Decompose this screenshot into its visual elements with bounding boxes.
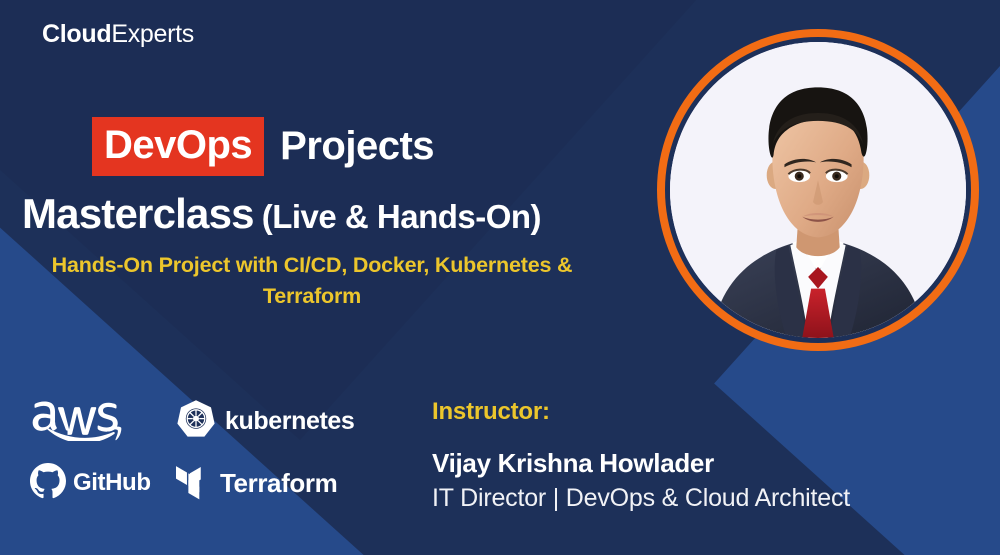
technology-logo-row-1: kubernetes xyxy=(30,390,410,452)
brand-name-light: Experts xyxy=(111,20,194,48)
headline-masterclass-word: Masterclass xyxy=(22,190,254,237)
technology-logo-grid: kubernetes GitHub xyxy=(30,390,410,514)
headline-line-1: DevOps Projects xyxy=(0,118,640,174)
instructor-block: Instructor: Vijay Krishna Howlader IT Di… xyxy=(432,400,972,511)
instructor-role: IT Director | DevOps & Cloud Architect xyxy=(432,486,972,511)
course-promo-banner: CloudExperts DevOps Projects Masterclass… xyxy=(0,0,1000,555)
technology-logo-row-2: GitHub Terraform xyxy=(30,452,410,514)
github-logo-icon xyxy=(30,463,66,504)
aws-logo-icon xyxy=(30,397,122,446)
instructor-label: Instructor: xyxy=(432,400,972,424)
instructor-photo-ring xyxy=(657,29,979,351)
devops-badge: DevOps xyxy=(92,117,264,176)
headline-line-2: Masterclass(Live & Hands-On) xyxy=(0,190,640,238)
tech-item-github: GitHub xyxy=(30,463,176,504)
headline-live-hands-on: (Live & Hands-On) xyxy=(262,198,541,235)
terraform-logo-icon xyxy=(176,462,210,505)
instructor-name: Vijay Krishna Howlader xyxy=(432,450,972,476)
kubernetes-label: kubernetes xyxy=(225,409,354,434)
tech-item-terraform: Terraform xyxy=(176,462,337,505)
instructor-avatar xyxy=(670,42,966,338)
terraform-label: Terraform xyxy=(220,470,337,496)
tech-item-kubernetes: kubernetes xyxy=(176,399,354,444)
headline-projects-word: Projects xyxy=(280,126,434,166)
github-label: GitHub xyxy=(73,471,151,495)
brand-name-bold: Cloud xyxy=(42,20,111,48)
tech-item-aws xyxy=(30,397,176,446)
headline-block: DevOps Projects Masterclass(Live & Hands… xyxy=(0,118,640,238)
kubernetes-logo-icon xyxy=(176,399,216,444)
brand-logo: CloudExperts xyxy=(42,22,194,47)
subtitle-text: Hands-On Project with CI/CD, Docker, Kub… xyxy=(22,250,602,311)
